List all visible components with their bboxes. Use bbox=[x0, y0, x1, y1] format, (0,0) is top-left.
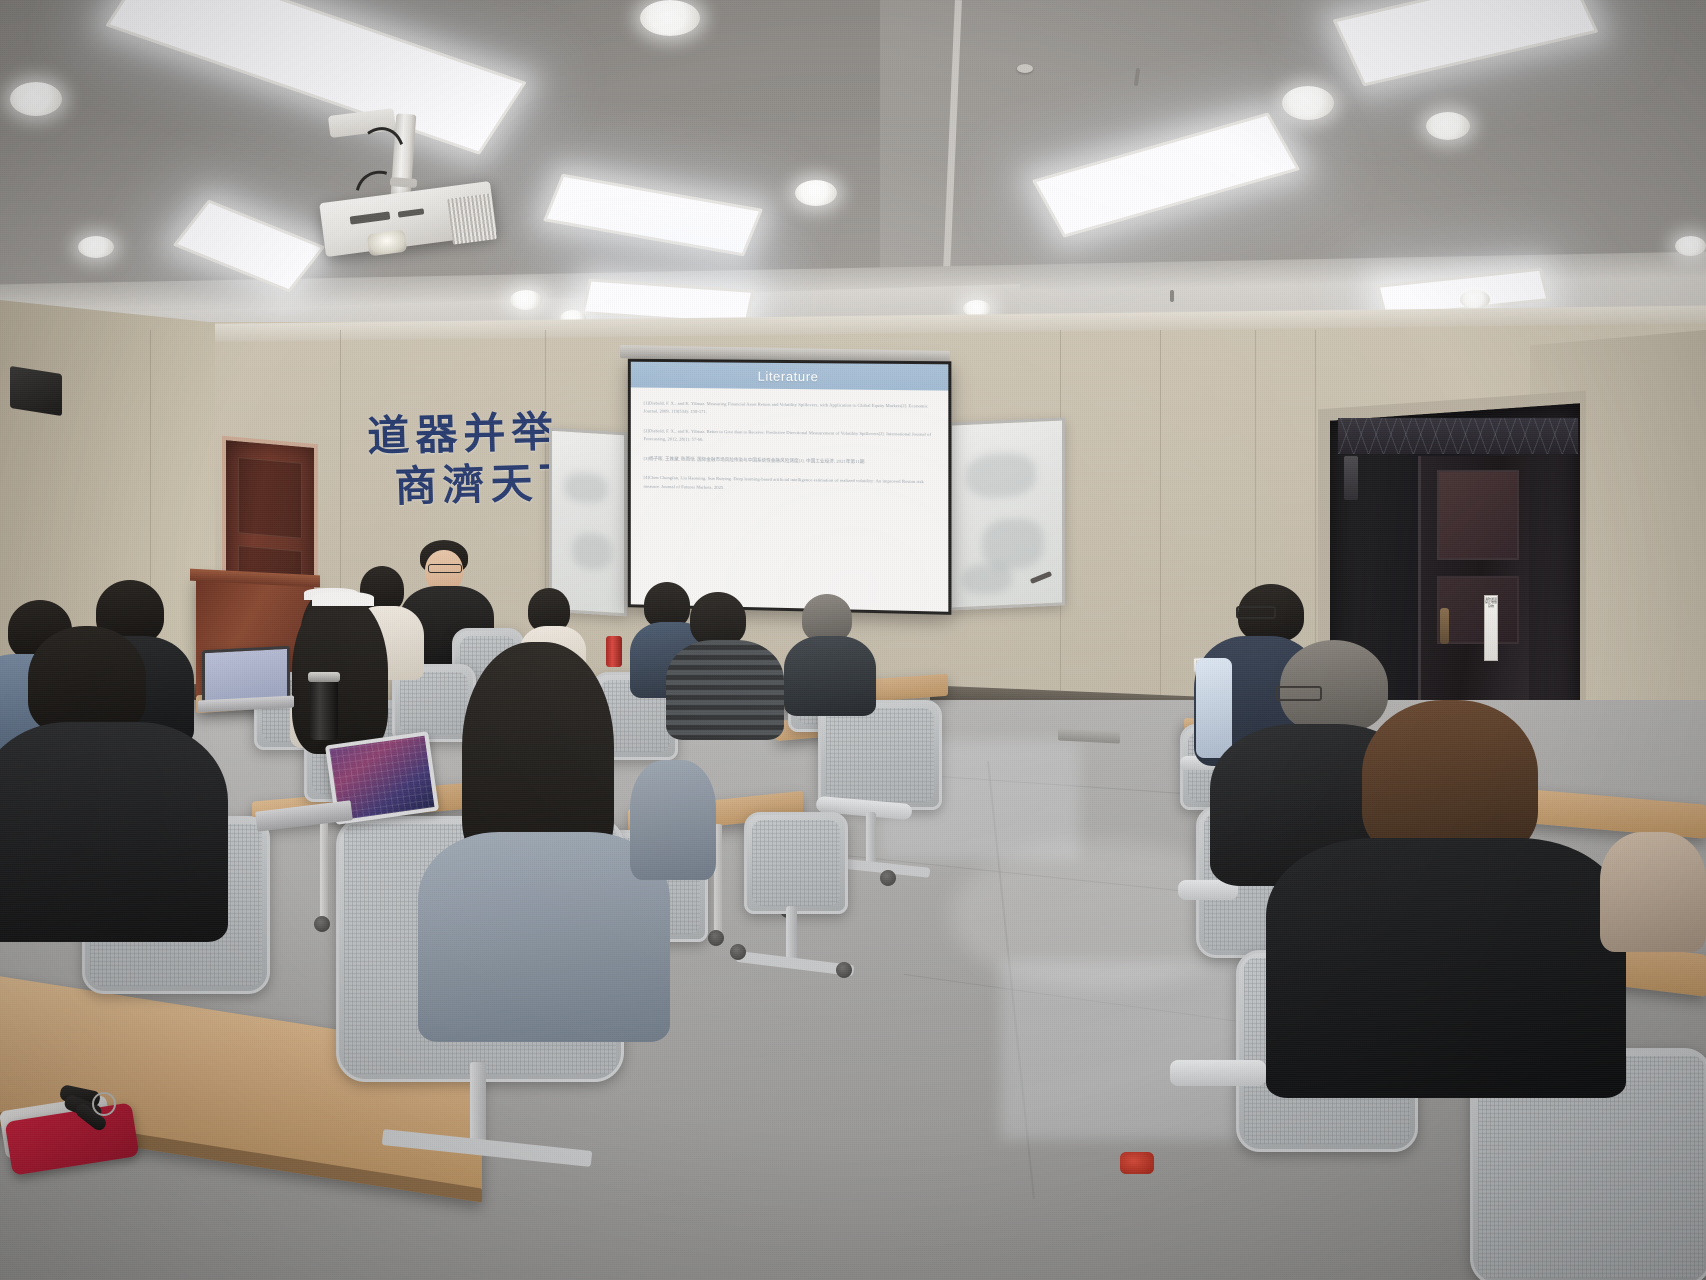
whiteboard-right[interactable] bbox=[949, 417, 1065, 610]
fire-extinguisher[interactable] bbox=[1120, 1152, 1154, 1174]
projector-vent bbox=[447, 193, 497, 244]
downlight bbox=[1675, 236, 1706, 256]
chair[interactable] bbox=[818, 700, 942, 810]
wall-panel-seam bbox=[1160, 330, 1161, 730]
door-closer bbox=[1344, 456, 1358, 500]
door-handle[interactable] bbox=[1440, 608, 1449, 644]
chair-caster bbox=[836, 962, 852, 978]
door-panel-inset bbox=[1437, 576, 1519, 644]
chair-caster bbox=[730, 944, 746, 960]
slide-reference-4: [4]Chen Chongfan, Liu Haoming, Sun Ruiyi… bbox=[644, 474, 936, 496]
downlight bbox=[510, 290, 542, 310]
slide-reference-1: [1]Diebold, F. X., and K. Yilmaz. Measur… bbox=[644, 399, 936, 419]
drink-can[interactable] bbox=[606, 636, 622, 667]
chair[interactable] bbox=[744, 812, 848, 914]
chair-armrest bbox=[1170, 1060, 1266, 1086]
wall-speaker bbox=[10, 366, 62, 416]
car-keys[interactable] bbox=[52, 1088, 126, 1134]
downlight bbox=[1460, 290, 1490, 309]
slide-reference-3: [3]杨子晖, 王姝黛, 陈雨恬. 国际金融市场风险传染与中国系统性金融风险测度… bbox=[644, 455, 936, 468]
door-panel-inset bbox=[1437, 470, 1519, 560]
chair-caster bbox=[880, 870, 896, 886]
seminar-room-photo: 道器并举 商濟天下 Literature [1]Diebold, F. X., … bbox=[0, 0, 1706, 1280]
slide-title: Literature bbox=[758, 368, 819, 384]
thermos-flask[interactable] bbox=[310, 678, 338, 740]
downlight bbox=[1426, 112, 1470, 140]
downlight bbox=[78, 236, 114, 258]
projection-screen: Literature [1]Diebold, F. X., and K. Yil… bbox=[628, 359, 952, 615]
door-transom-window bbox=[1338, 418, 1578, 454]
ceiling-hook bbox=[1170, 290, 1174, 302]
smoke-detector-icon bbox=[1017, 64, 1033, 73]
slide-title-banner: Literature bbox=[631, 362, 949, 391]
thermos-cap bbox=[308, 672, 340, 682]
downlight bbox=[640, 0, 700, 36]
desk-caster bbox=[314, 916, 330, 932]
downlight bbox=[1282, 86, 1334, 120]
door-notice-sign: 消防通道禁止堆放杂物 bbox=[1484, 595, 1498, 661]
chair-stem bbox=[866, 812, 876, 868]
whiteboard-left[interactable] bbox=[549, 428, 627, 617]
downlight bbox=[795, 180, 837, 206]
downlight bbox=[10, 82, 62, 116]
slide-reference-2: [2]Diebold, F. X., and K. Yilmaz. Better… bbox=[644, 427, 936, 448]
desk-leg bbox=[320, 816, 328, 920]
slide-body: [1]Diebold, F. X., and K. Yilmaz. Measur… bbox=[631, 387, 949, 611]
presentation-slide: Literature [1]Diebold, F. X., and K. Yil… bbox=[631, 362, 949, 612]
desk-caster bbox=[708, 930, 724, 946]
